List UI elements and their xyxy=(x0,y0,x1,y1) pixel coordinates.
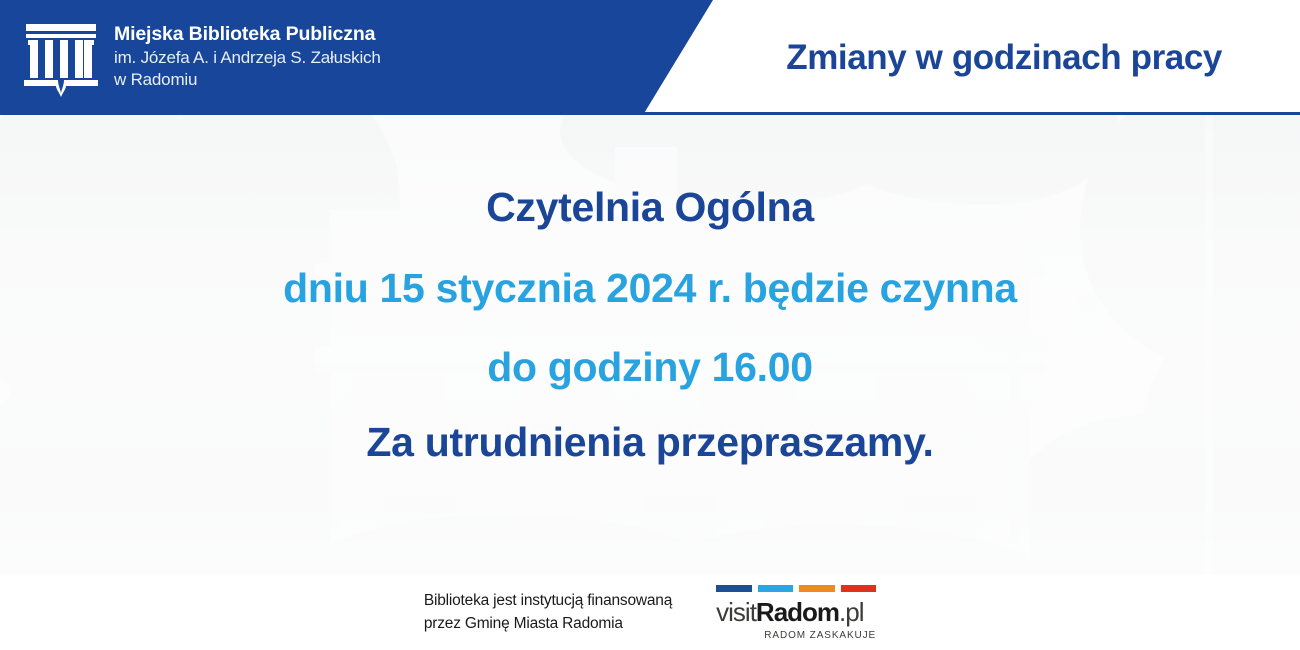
library-name-line-3: w Radomiu xyxy=(114,69,381,91)
visit-radom-color-bars xyxy=(716,585,876,592)
library-logo[interactable]: Miejska Biblioteka Publiczna im. Józefa … xyxy=(0,0,381,115)
page-header: Miejska Biblioteka Publiczna im. Józefa … xyxy=(0,0,1300,115)
color-bar-blue xyxy=(716,585,752,592)
page-title: Zmiany w godzinach pracy xyxy=(786,0,1300,115)
library-name-line-1: Miejska Biblioteka Publiczna xyxy=(114,23,381,47)
header-bottom-rule xyxy=(0,112,1300,115)
library-name-line-2: im. Józefa A. i Andrzeja S. Załuskich xyxy=(114,47,381,69)
visit-radom-tagline: RADOM ZASKAKUJE xyxy=(716,630,876,641)
visit-radom-prefix: visit xyxy=(716,597,756,627)
funding-line-2: przez Gminę Miasta Radomia xyxy=(424,613,672,635)
visit-radom-wordmark: visitRadom.pl xyxy=(716,599,876,625)
announcement-message: Czytelnia Ogólna dniu 15 stycznia 2024 r… xyxy=(0,115,1300,575)
visit-radom-logo[interactable]: visitRadom.pl RADOM ZASKAKUJE xyxy=(716,585,876,641)
message-line-4: Za utrudnienia przepraszamy. xyxy=(366,422,933,463)
funding-line-1: Biblioteka jest instytucją finansowaną xyxy=(424,590,672,612)
library-logo-text: Miejska Biblioteka Publiczna im. Józefa … xyxy=(114,23,381,92)
funding-statement: Biblioteka jest instytucją finansowaną p… xyxy=(424,590,672,635)
visit-radom-tld: .pl xyxy=(839,597,863,627)
color-bar-lightblue xyxy=(758,585,794,592)
message-line-3: do godziny 16.00 xyxy=(487,347,813,388)
message-line-2: dniu 15 stycznia 2024 r. będzie czynna xyxy=(283,268,1017,309)
visit-radom-name: Radom xyxy=(756,597,839,627)
library-building-book-icon xyxy=(22,18,100,98)
message-line-1: Czytelnia Ogólna xyxy=(486,187,814,228)
color-bar-orange xyxy=(799,585,835,592)
poster-canvas: BIBLIOTEKA Czytelnia Ogólna dniu 15 styc… xyxy=(0,0,1300,650)
page-footer: Biblioteka jest instytucją finansowaną p… xyxy=(0,575,1300,650)
color-bar-red xyxy=(841,585,877,592)
